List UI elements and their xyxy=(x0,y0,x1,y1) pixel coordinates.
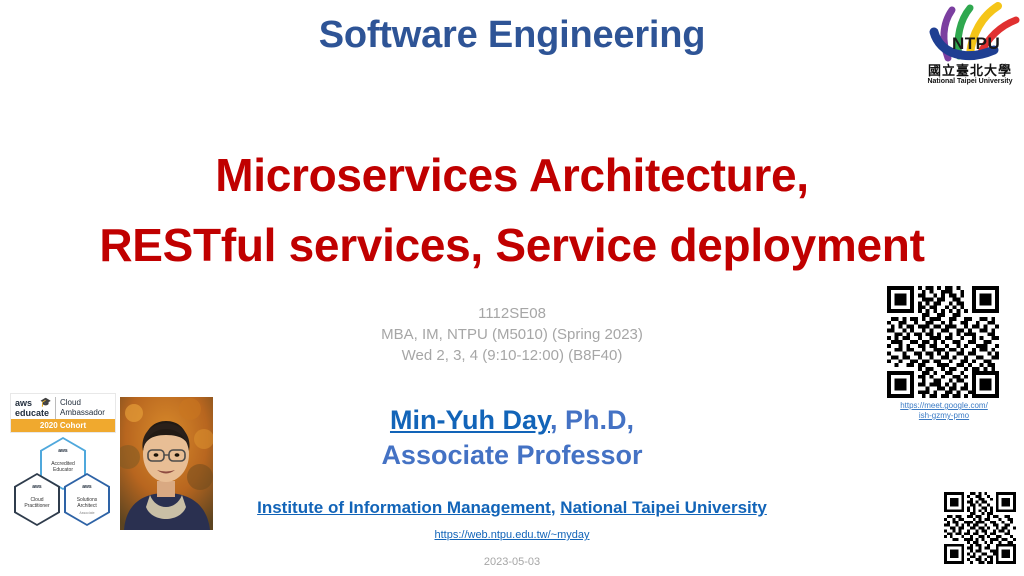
ntpu-logo-chinese-name: 國立臺北大學 xyxy=(918,60,1022,79)
affiliation-separator: , xyxy=(551,498,560,517)
aws-badge-label-cloud-practitioner: Cloud Practitioner xyxy=(14,497,60,509)
aws-ambassador-label: Cloud Ambassador xyxy=(60,398,105,418)
aws-badge-divider xyxy=(55,397,56,419)
graduation-cap-icon: 🎓 xyxy=(40,397,51,408)
meet-link-line-1: https://meet.google.com/ xyxy=(900,401,988,410)
aws-brand-line-1: aws xyxy=(15,398,32,408)
aws-cloud-ambassador-badge: aws educate 🎓 Cloud Ambassador 2020 Coho… xyxy=(10,393,116,433)
speaker-affiliation: Institute of Information Management, Nat… xyxy=(214,497,810,519)
aws-mark-solutions-architect: aws xyxy=(64,484,110,490)
ntpu-logo: NTPU 國立臺北大學 National Taipei University xyxy=(918,2,1022,94)
course-meta: 1112SE08 MBA, IM, NTPU (M5010) (Spring 2… xyxy=(0,303,1024,366)
meet-qr-code[interactable] xyxy=(884,286,1002,398)
ntpu-logo-swooshes xyxy=(918,2,1022,64)
aws-ambassador-line-1: Cloud xyxy=(60,398,81,407)
aws-certification-hexagons: aws Accredited Educator aws Cloud Practi… xyxy=(10,433,118,528)
page-title-line-1: Microservices Architecture, xyxy=(0,140,1024,210)
affiliation-university-link[interactable]: National Taipei University xyxy=(560,498,767,517)
course-program: MBA, IM, NTPU (M5010) (Spring 2023) xyxy=(0,324,1024,345)
secondary-qr-code[interactable] xyxy=(944,492,1016,564)
aws-badge-label-line-2: Educator xyxy=(53,467,73,473)
aws-mark-cloud-practitioner: aws xyxy=(14,484,60,490)
ntpu-logo-english-name: National Taipei University xyxy=(918,78,1022,85)
aws-brand-line-2: educate xyxy=(15,408,49,418)
aws-credentials-group: aws educate 🎓 Cloud Ambassador 2020 Coho… xyxy=(10,393,118,533)
speaker-portrait-photo xyxy=(120,397,213,530)
aws-cohort-banner: 2020 Cohort xyxy=(11,419,115,432)
aws-badge-label-accredited-educator: Accredited Educator xyxy=(40,461,86,473)
aws-badge-label-line-2: Architect xyxy=(77,503,96,509)
page-title-line-2: RESTful services, Service deployment xyxy=(0,210,1024,280)
aws-badge-label-line-2: Practitioner xyxy=(24,503,49,509)
meet-link-line-2: ish-gzmy-pmo xyxy=(919,411,969,420)
course-title: Software Engineering xyxy=(0,14,1024,57)
ntpu-logo-wordmark: NTPU xyxy=(952,34,1000,54)
meet-qr-block[interactable]: https://meet.google.com/ ish-gzmy-pmo xyxy=(884,286,1004,421)
speaker-role: Associate Professor xyxy=(214,437,810,473)
speaker-name[interactable]: Min-Yuh Day xyxy=(390,405,550,435)
aws-ambassador-line-2: Ambassador xyxy=(60,408,105,417)
aws-mark-accredited-educator: aws xyxy=(40,448,86,454)
course-code: 1112SE08 xyxy=(0,303,1024,324)
speaker-block: Min-Yuh Day, Ph.D, Associate Professor xyxy=(214,403,810,473)
meet-link[interactable]: https://meet.google.com/ ish-gzmy-pmo xyxy=(884,401,1004,421)
speaker-degree: , Ph.D, xyxy=(550,405,634,435)
slide-canvas: Software Engineering NTPU 國立臺北大學 Nationa… xyxy=(0,0,1024,576)
aws-badge-label-solutions-architect: Solutions Architect xyxy=(64,497,110,509)
page-title: Microservices Architecture, RESTful serv… xyxy=(0,140,1024,280)
speaker-personal-url[interactable]: https://web.ntpu.edu.tw/~myday xyxy=(214,529,810,541)
speaker-name-line: Min-Yuh Day, Ph.D, xyxy=(214,403,810,437)
affiliation-institute-link[interactable]: Institute of Information Management xyxy=(257,498,551,517)
presentation-date: 2023-05-03 xyxy=(214,556,810,568)
aws-badge-sublabel: Associate xyxy=(64,511,110,515)
course-schedule: Wed 2, 3, 4 (9:10-12:00) (B8F40) xyxy=(0,345,1024,366)
